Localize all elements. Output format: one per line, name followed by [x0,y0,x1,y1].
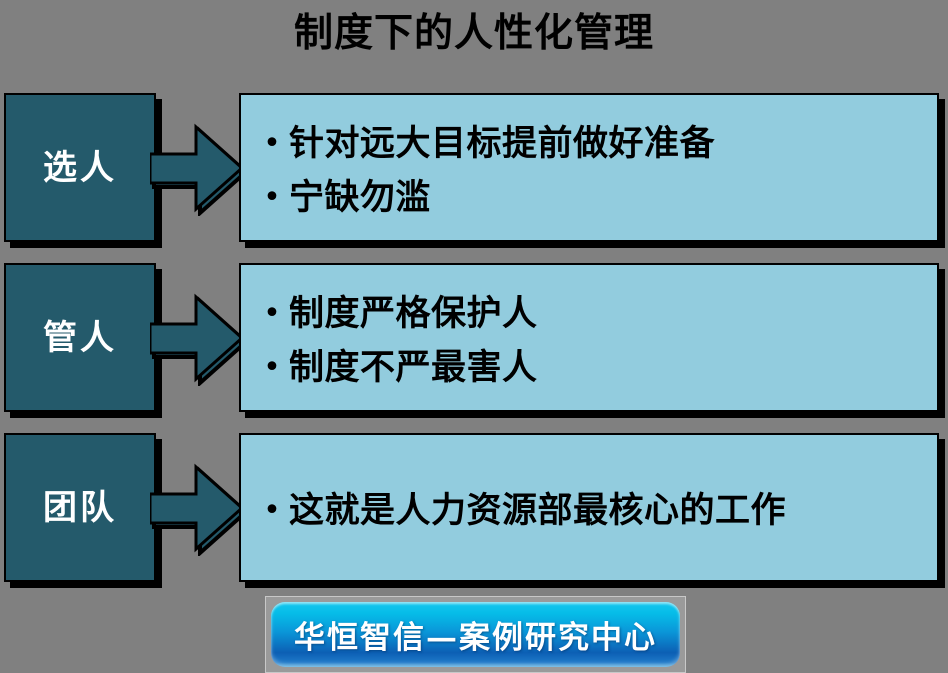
footer-banner-text: 华恒智信—案例研究中心 [294,612,657,657]
right-arrow-icon [150,291,246,386]
footer-banner[interactable]: 华恒智信—案例研究中心 [265,596,686,673]
content-box[interactable]: • 针对远大目标提前做好准备 • 宁缺勿滥 [239,93,939,242]
bullet-text: 制度严格保护人 [289,287,538,341]
flow-row: 选人 • 针对远大目标提前做好准备 • 宁缺勿滥 [0,93,948,248]
right-arrow-icon [150,121,246,216]
bullet-icon: • [255,484,289,538]
stage-label-text: 管人 [43,318,117,358]
flow-row: 管人 • 制度严格保护人 • 制度不严最害人 [0,263,948,418]
stage-label-text: 团队 [43,488,117,528]
stage-label-box[interactable]: 选人 [4,93,156,242]
list-item: • 宁缺勿滥 [255,171,927,225]
list-item: • 制度不严最害人 [255,341,927,395]
content-box[interactable]: • 这就是人力资源部最核心的工作 [239,433,939,582]
page-title: 制度下的人性化管理 [0,8,948,60]
right-arrow-icon [150,461,246,556]
stage-label-box[interactable]: 管人 [4,263,156,412]
content-box[interactable]: • 制度严格保护人 • 制度不严最害人 [239,263,939,412]
list-item: • 这就是人力资源部最核心的工作 [255,484,927,538]
bullet-icon: • [255,341,289,395]
bullet-text: 宁缺勿滥 [289,171,431,225]
bullet-text: 针对远大目标提前做好准备 [289,117,715,171]
bullet-icon: • [255,117,289,171]
list-item: • 针对远大目标提前做好准备 [255,117,927,171]
flow-row: 团队 • 这就是人力资源部最核心的工作 [0,433,948,588]
stage-label-text: 选人 [43,148,117,188]
stage-label-box[interactable]: 团队 [4,433,156,582]
bullet-text: 制度不严最害人 [289,341,538,395]
footer-banner-surface: 华恒智信—案例研究中心 [271,602,680,667]
bullet-icon: • [255,287,289,341]
list-item: • 制度严格保护人 [255,287,927,341]
bullet-icon: • [255,171,289,225]
bullet-text: 这就是人力资源部最核心的工作 [289,484,786,538]
